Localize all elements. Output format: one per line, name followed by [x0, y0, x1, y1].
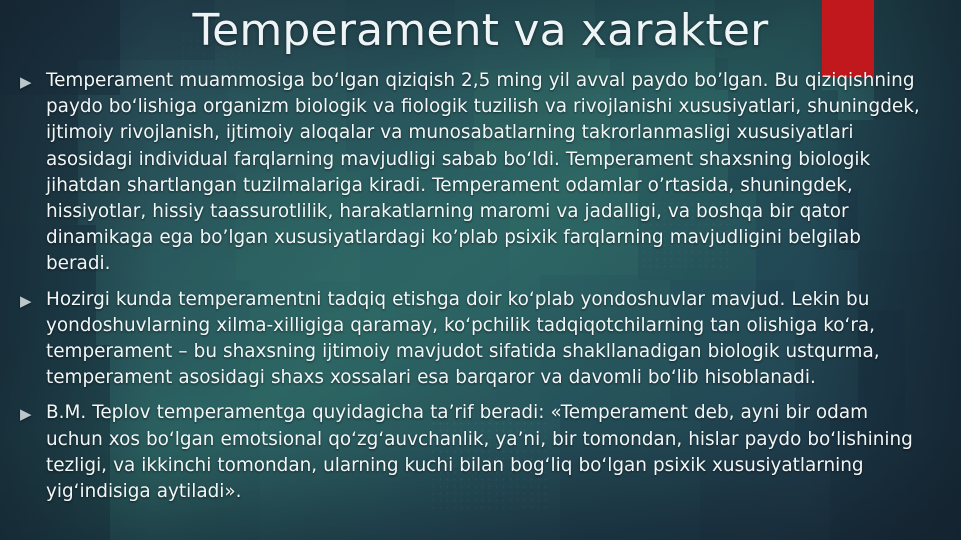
- bullet-paragraph-text: Temperament muammosiga bo‘lgan qiziqish …: [46, 68, 925, 278]
- slide-title: Temperament va xarakter: [0, 6, 961, 57]
- bullet-item: ▶ B.M. Teplov temperamentga quyidagicha …: [20, 400, 925, 505]
- bullet-item: ▶ Hozirgi kunda temperamentni tadqiq eti…: [20, 287, 925, 392]
- slide-body-content: ▶ Temperament muammosiga bo‘lgan qiziqis…: [20, 68, 925, 514]
- bullet-paragraph-text: Hozirgi kunda temperamentni tadqiq etish…: [46, 287, 925, 392]
- bullet-item: ▶ Temperament muammosiga bo‘lgan qiziqis…: [20, 68, 925, 278]
- triangle-right-bullet-icon: ▶: [20, 400, 46, 422]
- triangle-right-bullet-icon: ▶: [20, 68, 46, 90]
- presentation-slide: Temperament va xarakter ▶ Temperament mu…: [0, 0, 961, 540]
- triangle-right-bullet-icon: ▶: [20, 287, 46, 309]
- bullet-paragraph-text: B.M. Teplov temperamentga quyidagicha ta…: [46, 400, 925, 505]
